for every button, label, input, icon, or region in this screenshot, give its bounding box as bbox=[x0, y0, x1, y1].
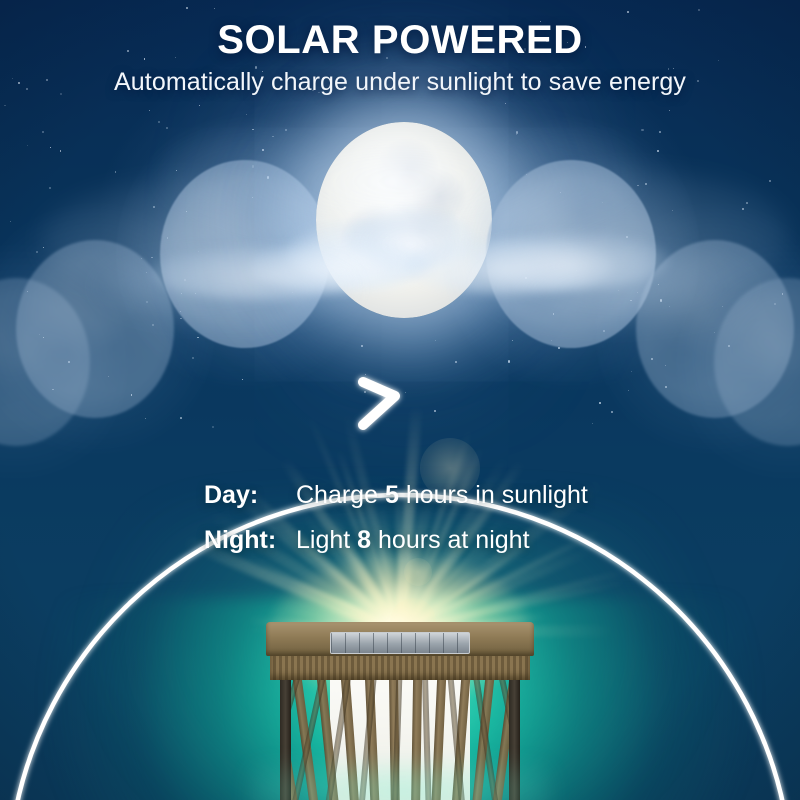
spec-prefix-night: Light bbox=[296, 526, 350, 554]
spec-row-night: Night: Light 8 hours at night bbox=[204, 526, 624, 571]
solar-powered-feature-graphic: SOLAR POWERED Automatically charge under… bbox=[0, 0, 800, 800]
spec-prefix-day: Charge bbox=[296, 481, 378, 509]
spec-suffix-day: hours in sunlight bbox=[406, 481, 588, 509]
lantern-rope-band bbox=[270, 654, 530, 680]
spec-text-day: Charge 5 hours in sunlight bbox=[296, 481, 588, 510]
spec-label-day: Day: bbox=[204, 481, 296, 510]
lantern-base-glow bbox=[250, 762, 550, 800]
spec-suffix-night: hours at night bbox=[378, 526, 530, 554]
solar-panel-icon bbox=[330, 632, 470, 654]
page-subtitle: Automatically charge under sunlight to s… bbox=[0, 68, 800, 97]
spec-value-day: 5 bbox=[385, 481, 399, 509]
spec-row-day: Day: Charge 5 hours in sunlight bbox=[204, 481, 624, 526]
spec-value-night: 8 bbox=[357, 526, 371, 554]
solar-rattan-lantern bbox=[266, 622, 534, 800]
spec-list: Day: Charge 5 hours in sunlight Night: L… bbox=[204, 481, 624, 571]
page-title: SOLAR POWERED bbox=[0, 18, 800, 63]
spec-text-night: Light 8 hours at night bbox=[296, 526, 530, 555]
spec-label-night: Night: bbox=[204, 526, 296, 555]
